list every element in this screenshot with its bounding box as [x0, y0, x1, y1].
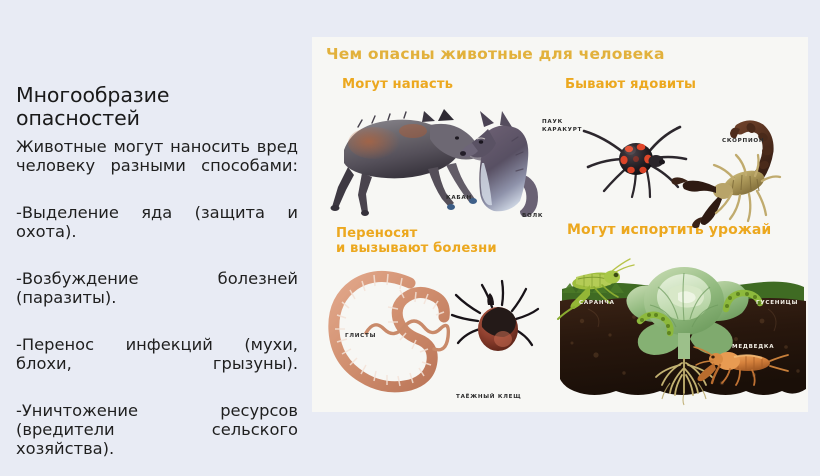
crop-pests-illustration — [558, 243, 808, 412]
spider-figure — [584, 127, 686, 197]
section-heading-crop: Могут испортить урожай — [567, 223, 771, 238]
bullet-pests: -Уничтожение ресурсов (вредители сельско… — [16, 401, 298, 476]
quadrant-venomous: ПАУК КАРАКУРТ СКОРПИОН — [558, 95, 808, 225]
label-worms: ГЛИСТЫ — [345, 332, 376, 340]
label-caterpillars: ГУСЕНИЦЫ — [756, 299, 798, 307]
section-heading-attack: Могут напасть — [342, 78, 453, 93]
label-tick: ТАЁЖНЫЙ КЛЕЩ — [456, 393, 521, 401]
parasites-illustration — [318, 245, 558, 412]
section-heading-disease-line1: Переносят — [336, 227, 497, 242]
label-wolf: ВОЛК — [522, 212, 543, 220]
section-heading-venomous: Бывают ядовиты — [565, 78, 696, 93]
venomous-illustration — [558, 95, 808, 225]
label-mole-cricket: МЕДВЕДКА — [732, 343, 774, 351]
intro-paragraph: Животные могут наносить вред человеку ра… — [16, 137, 298, 194]
label-spider-line2: КАРАКУРТ — [542, 126, 582, 134]
bullet-infection: -Перенос инфекций (мухи, блохи, грызуны)… — [16, 335, 298, 392]
text-column: Многообразие опасностей Животные могут н… — [16, 84, 298, 476]
bullet-parasite: -Возбуждение болезней (паразиты). — [16, 269, 298, 326]
quadrant-attack: КАБАН ВОЛК — [318, 95, 558, 225]
quadrant-crop: САРАНЧА ГУСЕНИЦЫ МЕДВЕДКА — [558, 243, 808, 412]
label-boar: КАБАН — [446, 194, 472, 202]
tick-figure — [452, 281, 538, 351]
boar-illustration — [318, 95, 558, 225]
label-spider-line1: ПАУК — [542, 118, 582, 126]
slide-canvas: Многообразие опасностей Животные могут н… — [0, 0, 820, 458]
label-scorpion: СКОРПИОН — [722, 137, 764, 145]
poster-image: Чем опасны животные для человека Могут н… — [312, 37, 808, 412]
label-locust: САРАНЧА — [579, 299, 615, 307]
bullet-venom: -Выделение яда (защита и охота). — [16, 203, 298, 260]
label-spider: ПАУК КАРАКУРТ — [542, 118, 582, 134]
poster-title: Чем опасны животные для человека — [326, 45, 665, 63]
quadrant-disease: ГЛИСТЫ ТАЁЖНЫЙ КЛЕЩ — [318, 245, 558, 412]
page-title: Многообразие опасностей — [16, 84, 298, 131]
